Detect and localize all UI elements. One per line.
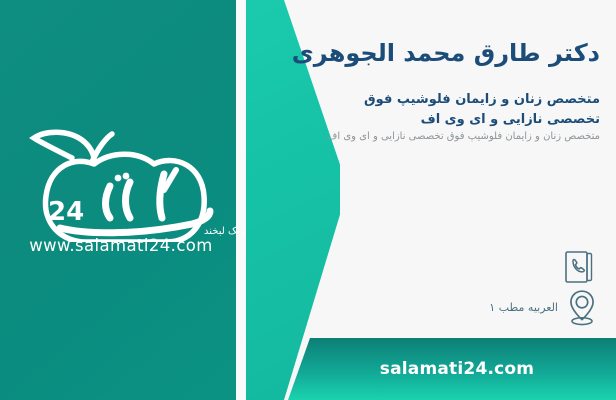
location-row[interactable]: العربیه مطب ۱ (489, 288, 602, 326)
banner-website-url[interactable]: salamati24.com (288, 338, 616, 400)
logo-24-text: 24 (48, 197, 84, 227)
doctor-name: دکتر طارق محمد الجوهری (300, 38, 600, 68)
logo-website-url: www.salamati24.com (14, 236, 228, 255)
doctor-specialty-primary: متخصص زنان و زایمان فلوشیپ فوق تخصصی ناز… (310, 90, 600, 130)
doctor-specialty-secondary: متخصص زنان و زایمان فلوشیپ فوق تخصصی ناز… (322, 129, 600, 145)
location-address: العربیه مطب ۱ (489, 301, 562, 314)
bottom-banner: salamati24.com (288, 338, 616, 400)
salamati-apple-logo-icon: 24 به راحتی یک لبخند (14, 112, 246, 242)
brand-logo: 24 به راحتی یک لبخند www.salamati24.com (14, 112, 246, 272)
phone-book-icon[interactable] (564, 250, 594, 284)
location-pin-icon[interactable] (562, 288, 602, 326)
business-card: 24 به راحتی یک لبخند www.salamati24.com … (0, 0, 616, 400)
phone-book-row[interactable] (564, 250, 598, 286)
